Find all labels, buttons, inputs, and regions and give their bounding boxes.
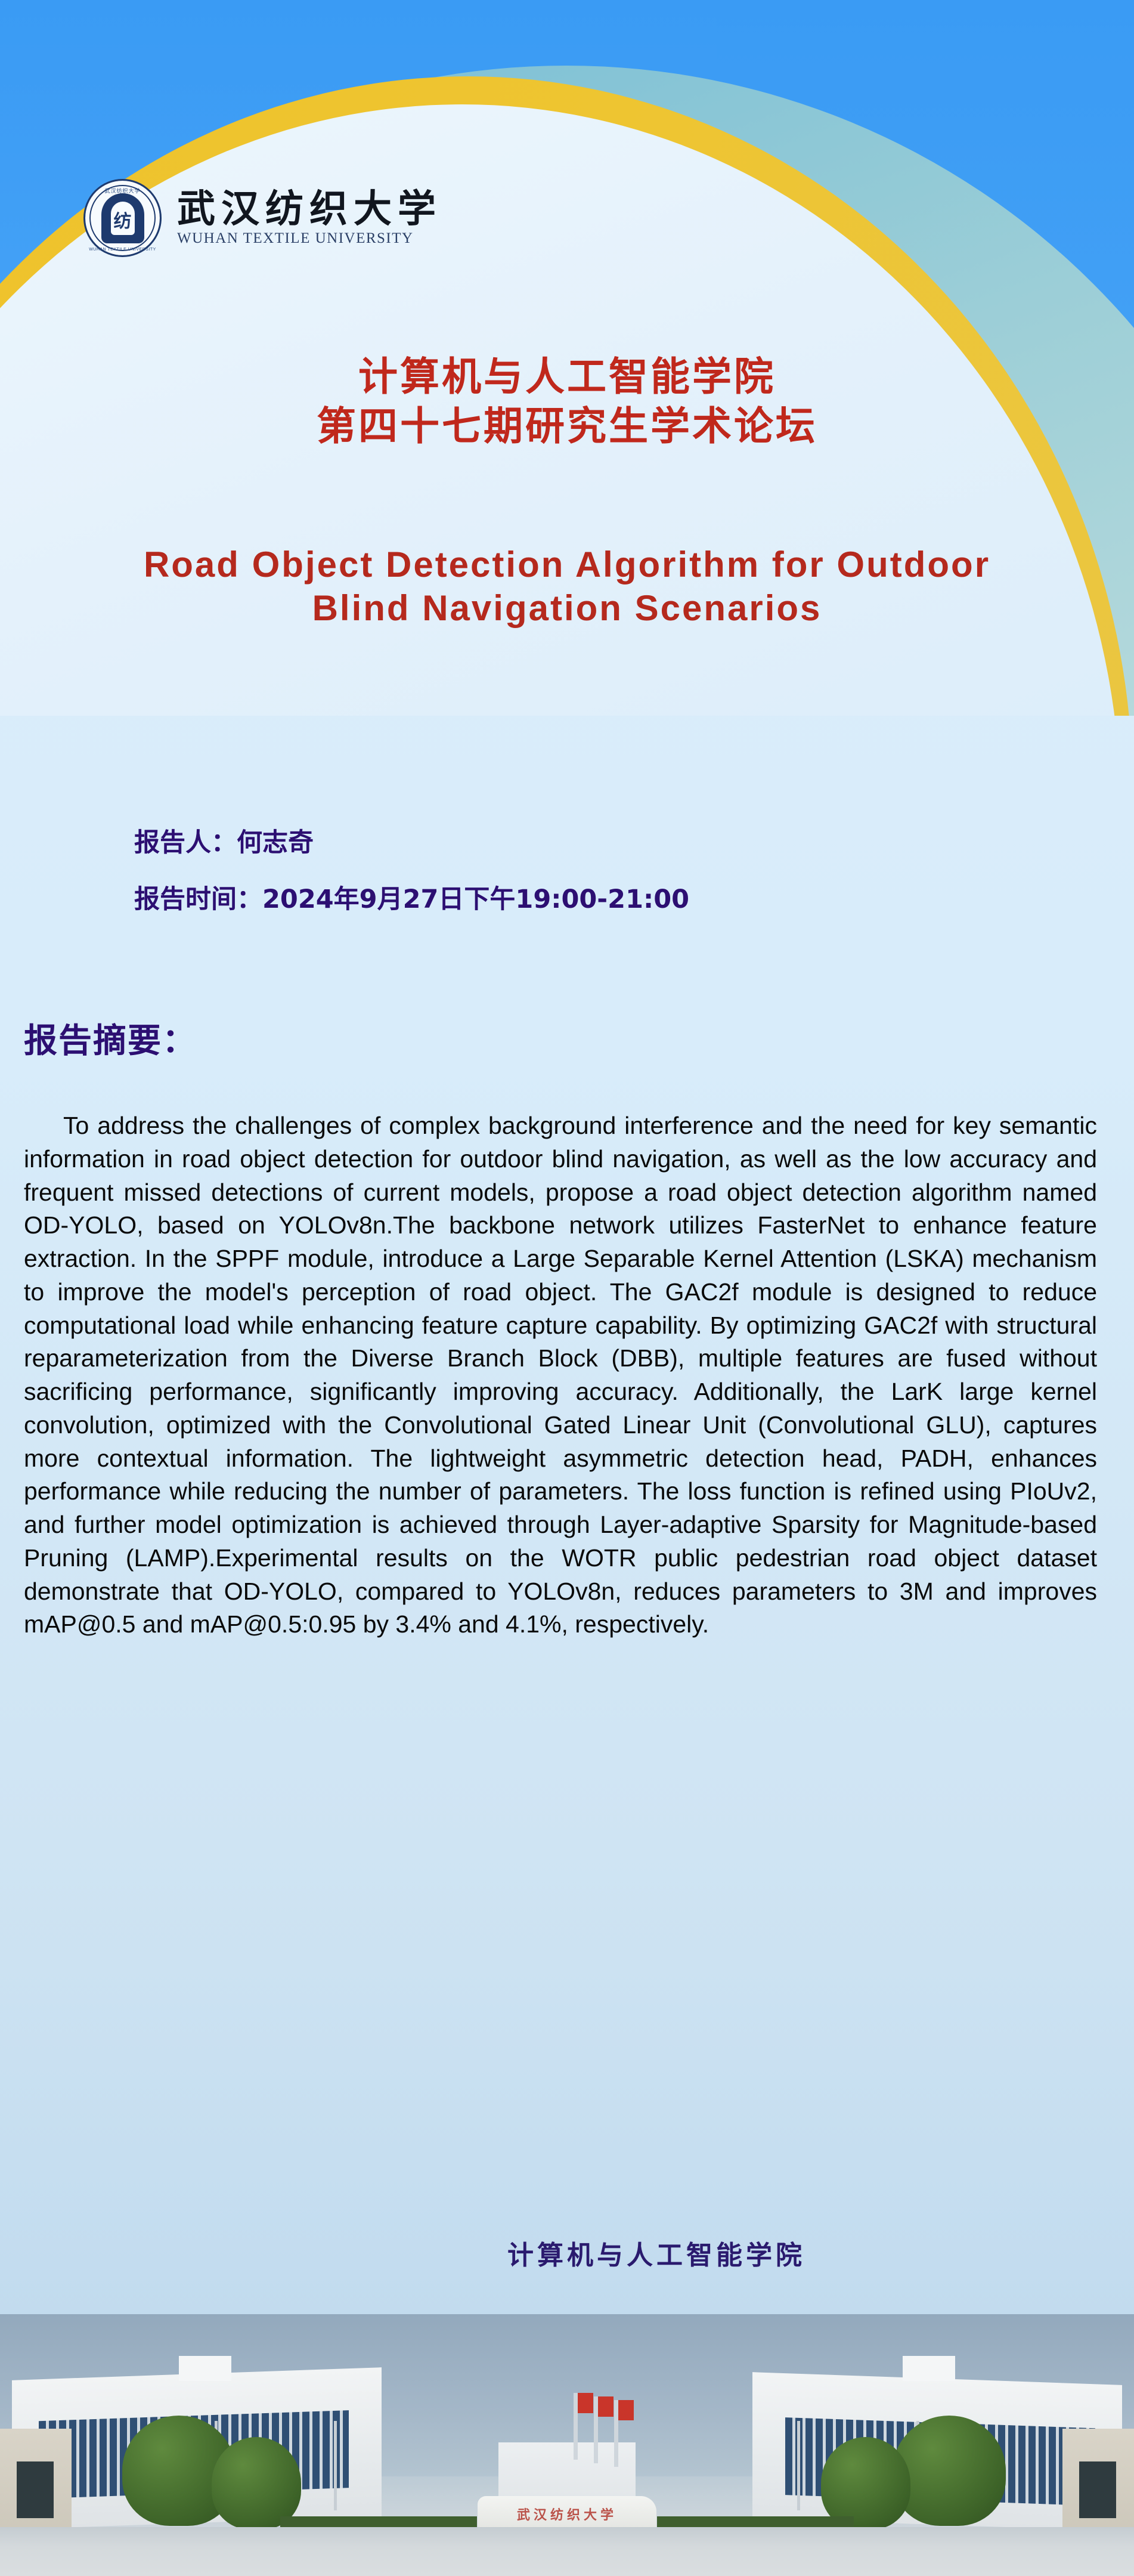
forum-title-cn: 计算机与人工智能学院 第四十七期研究生学术论坛: [0, 352, 1134, 451]
photo-flag-3: [618, 2400, 634, 2420]
talk-title-en: Road Object Detection Algorithm for Outd…: [101, 543, 1033, 630]
university-name-cn: 武汉纺织大学: [177, 189, 442, 229]
photo-flagpole-2: [594, 2396, 598, 2463]
abstract-heading: 报告摘要：: [24, 1014, 197, 1062]
seal-arc-bottom-label: WUHAN TEXTILE UNIVERSITY: [85, 248, 160, 252]
photo-gate-pillar-left: [0, 2429, 72, 2533]
speaker-line: 报告人：何志奇: [134, 830, 1088, 856]
photo-lamp-left2: [334, 2421, 337, 2510]
photo-campus-stone-text: 武汉纺织大学: [478, 2504, 656, 2524]
photo-tree-2: [212, 2437, 301, 2529]
seal-letter: 纺: [114, 206, 132, 233]
photo-flagpole-1: [574, 2393, 578, 2460]
university-wordmark: 武汉纺织大学 WUHAN TEXTILE UNIVERSITY: [177, 189, 442, 247]
photo-plaza-ground: [0, 2527, 1134, 2576]
photo-rooftop-right: [903, 2356, 955, 2381]
photo-rooftop-left: [179, 2356, 231, 2381]
organizer-signature: 计算机与人工智能学院: [0, 2234, 1134, 2272]
photo-tree-4: [821, 2437, 910, 2529]
forum-title-cn-line2: 第四十七期研究生学术论坛: [0, 401, 1134, 451]
abstract-body: To address the challenges of complex bac…: [24, 1109, 1097, 1641]
university-name-en: WUHAN TEXTILE UNIVERSITY: [177, 230, 442, 247]
photo-lamp-right2: [797, 2421, 800, 2510]
time-line: 报告时间：2024年9月27日下午19:00-21:00: [134, 887, 1088, 913]
campus-photo: 武汉纺织大学: [0, 2314, 1134, 2576]
photo-flagpole-3: [614, 2400, 618, 2467]
poster-root: 武汉纺织大学 纺 WUHAN TEXTILE UNIVERSITY 武汉纺织大学…: [0, 0, 1134, 2576]
photo-tree-3: [893, 2416, 1006, 2526]
photo-gate-slot-right: [1079, 2461, 1116, 2518]
university-seal-icon: 武汉纺织大学 纺 WUHAN TEXTILE UNIVERSITY: [83, 179, 162, 257]
forum-title-cn-line1: 计算机与人工智能学院: [0, 352, 1134, 401]
talk-meta: 报告人：何志奇 报告时间：2024年9月27日下午19:00-21:00: [134, 830, 1088, 913]
university-logo: 武汉纺织大学 纺 WUHAN TEXTILE UNIVERSITY 武汉纺织大学…: [83, 179, 442, 257]
photo-gate-pillar-right: [1062, 2429, 1134, 2533]
photo-flag-2: [598, 2396, 614, 2417]
photo-gate-slot-left: [17, 2461, 54, 2518]
photo-flag-1: [578, 2393, 593, 2413]
